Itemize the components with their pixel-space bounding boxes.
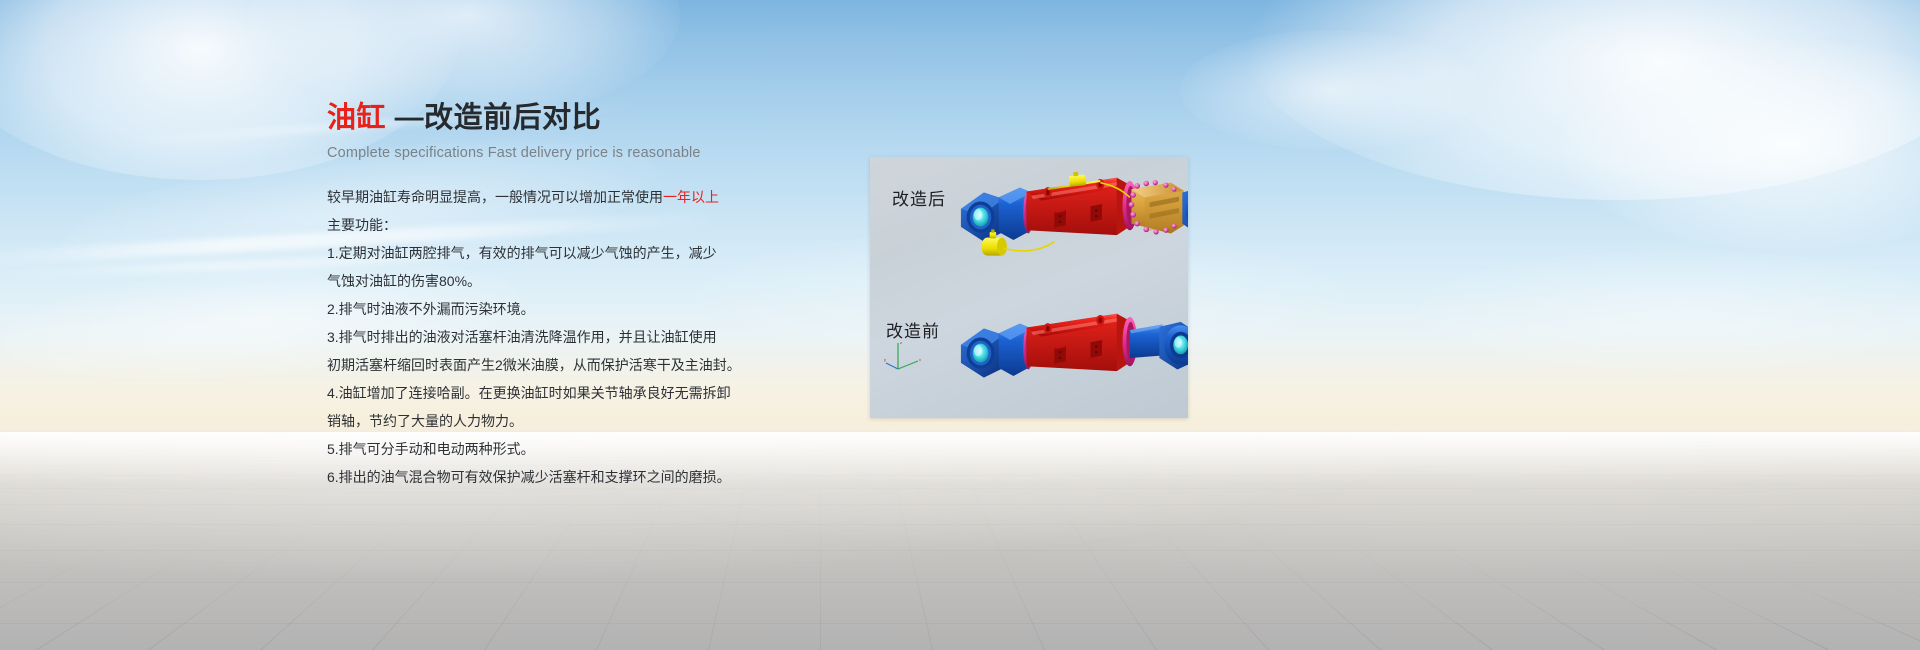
feature-line: 较早期油缸寿命明显提高，一般情况可以增加正常使用一年以上 xyxy=(327,183,887,211)
cylinder-before-modification xyxy=(961,314,1188,378)
cylinder-after-modification xyxy=(961,172,1188,256)
product-comparison-panel: 改造后 改造前 z x y xyxy=(870,157,1188,418)
feature-line: 初期活塞杆缩回时表面产生2微米油膜，从而保护活寒干及主油封。 xyxy=(327,351,887,379)
banner-copy: 油缸 —改造前后对比 Complete specifications Fast … xyxy=(327,100,887,491)
feature-line: 主要功能： xyxy=(327,211,887,239)
cylinder-renders xyxy=(870,157,1188,418)
feature-line: 2.排气时油液不外漏而污染环境。 xyxy=(327,295,887,323)
feature-line: 4.油缸增加了连接哈副。在更换油缸时如果关节轴承良好无需拆卸 xyxy=(327,379,887,407)
feature-line: 3.排气时排出的油液对活塞杆油清洗降温作用，并且让油缸使用 xyxy=(327,323,887,351)
promo-banner: 油缸 —改造前后对比 Complete specifications Fast … xyxy=(0,0,1920,650)
ground-plaza xyxy=(0,432,1920,650)
feature-line: 销轴，节约了大量的人力物力。 xyxy=(327,407,887,435)
feature-line: 气蚀对油缸的伤害80%。 xyxy=(327,267,887,295)
feature-line-emphasis: 一年以上 xyxy=(663,189,719,205)
cylinder-diagram xyxy=(870,157,1188,418)
feature-list: 较早期油缸寿命明显提高，一般情况可以增加正常使用一年以上 主要功能： 1.定期对… xyxy=(327,183,887,491)
feature-line: 5.排气可分手动和电动两种形式。 xyxy=(327,435,887,463)
page-subtitle: Complete specifications Fast delivery pr… xyxy=(327,145,887,161)
page-title-rest: —改造前后对比 xyxy=(395,102,602,134)
feature-line: 1.定期对油缸两腔排气，有效的排气可以减少气蚀的产生，减少 xyxy=(327,239,887,267)
feature-line: 6.排出的油气混合物可有效保护减少活塞杆和支撑环之间的磨损。 xyxy=(327,463,887,491)
feature-line-text: 较早期油缸寿命明显提高，一般情况可以增加正常使用 xyxy=(327,189,663,205)
page-title-highlight: 油缸 xyxy=(327,102,386,134)
page-title: 油缸 —改造前后对比 xyxy=(327,100,887,136)
horizon-haze xyxy=(0,432,1920,484)
